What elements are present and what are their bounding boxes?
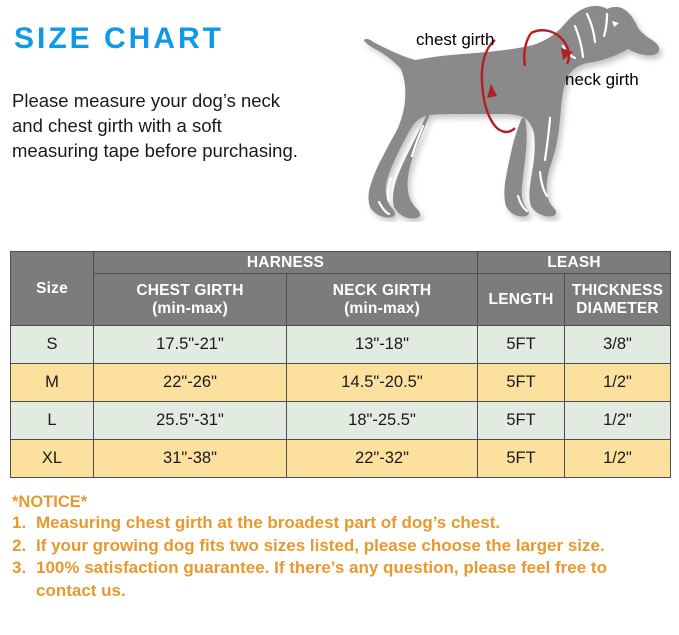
notice-item-text: If your growing dog fits two sizes liste… xyxy=(36,535,672,558)
neck-girth-label: neck girth xyxy=(565,70,639,90)
cell-size: XL xyxy=(11,440,94,478)
cell-length: 5FT xyxy=(478,326,565,364)
dog-measurement-diagram xyxy=(335,0,679,222)
cell-size: M xyxy=(11,364,94,402)
cell-chest: 17.5"-21" xyxy=(94,326,287,364)
table-row: M 22"-26" 14.5"-20.5" 5FT 1/2" xyxy=(11,364,671,402)
table-row: XL 31"-38" 22"-32" 5FT 1/2" xyxy=(11,440,671,478)
notice-item-number: 3. xyxy=(12,557,36,602)
column-header-chest-girth-sub: (min-max) xyxy=(94,300,286,318)
column-header-neck-girth-sub: (min-max) xyxy=(287,300,477,318)
table-body: S 17.5"-21" 13"-18" 5FT 3/8" M 22"-26" 1… xyxy=(11,326,671,478)
column-group-harness: HARNESS xyxy=(94,252,478,274)
cell-chest: 31"-38" xyxy=(94,440,287,478)
cell-thickness: 1/2" xyxy=(565,364,671,402)
notice-item: 2. If your growing dog fits two sizes li… xyxy=(12,535,672,558)
table-row: S 17.5"-21" 13"-18" 5FT 3/8" xyxy=(11,326,671,364)
notice-item-number: 2. xyxy=(12,535,36,558)
cell-neck: 22"-32" xyxy=(287,440,478,478)
cell-chest: 25.5"-31" xyxy=(94,402,287,440)
table-subheader-row: CHEST GIRTH (min-max) NECK GIRTH (min-ma… xyxy=(11,274,671,326)
column-header-size: Size xyxy=(11,252,94,326)
cell-length: 5FT xyxy=(478,440,565,478)
column-header-chest-girth: CHEST GIRTH (min-max) xyxy=(94,274,287,326)
table-row: L 25.5"-31" 18"-25.5" 5FT 1/2" xyxy=(11,402,671,440)
column-header-neck-girth: NECK GIRTH (min-max) xyxy=(287,274,478,326)
cell-chest: 22"-26" xyxy=(94,364,287,402)
notice-item-text: Measuring chest girth at the broadest pa… xyxy=(36,512,672,535)
page-title: SIZE CHART xyxy=(14,22,224,56)
dog-silhouette-icon xyxy=(364,6,659,219)
cell-thickness: 1/2" xyxy=(565,402,671,440)
notice-item-text: 100% satisfaction guarantee. If there’s … xyxy=(36,557,672,602)
cell-thickness: 1/2" xyxy=(565,440,671,478)
cell-length: 5FT xyxy=(478,364,565,402)
column-header-thickness: THICKNESS DIAMETER xyxy=(565,274,671,326)
notice-item-number: 1. xyxy=(12,512,36,535)
cell-thickness: 3/8" xyxy=(565,326,671,364)
cell-neck: 14.5"-20.5" xyxy=(287,364,478,402)
column-header-chest-girth-title: CHEST GIRTH xyxy=(94,282,286,300)
notice-heading: *NOTICE* xyxy=(12,492,672,512)
notice-item: 1. Measuring chest girth at the broadest… xyxy=(12,512,672,535)
column-header-thickness-sub: DIAMETER xyxy=(565,300,670,318)
cell-neck: 18"-25.5" xyxy=(287,402,478,440)
table-group-header-row: Size HARNESS LEASH xyxy=(11,252,671,274)
chest-girth-label: chest girth xyxy=(416,30,494,50)
cell-size: S xyxy=(11,326,94,364)
cell-length: 5FT xyxy=(478,402,565,440)
column-header-neck-girth-title: NECK GIRTH xyxy=(287,282,477,300)
column-group-leash: LEASH xyxy=(478,252,671,274)
intro-paragraph: Please measure your dog’s neck and chest… xyxy=(12,88,307,163)
notice-item: 3. 100% satisfaction guarantee. If there… xyxy=(12,557,672,602)
cell-neck: 13"-18" xyxy=(287,326,478,364)
table-header: Size HARNESS LEASH CHEST GIRTH (min-max)… xyxy=(11,252,671,326)
notice-block: *NOTICE* 1. Measuring chest girth at the… xyxy=(12,492,672,602)
size-chart-table: Size HARNESS LEASH CHEST GIRTH (min-max)… xyxy=(10,251,671,478)
cell-size: L xyxy=(11,402,94,440)
column-header-thickness-title: THICKNESS xyxy=(565,282,670,300)
column-header-length: LENGTH xyxy=(478,274,565,326)
